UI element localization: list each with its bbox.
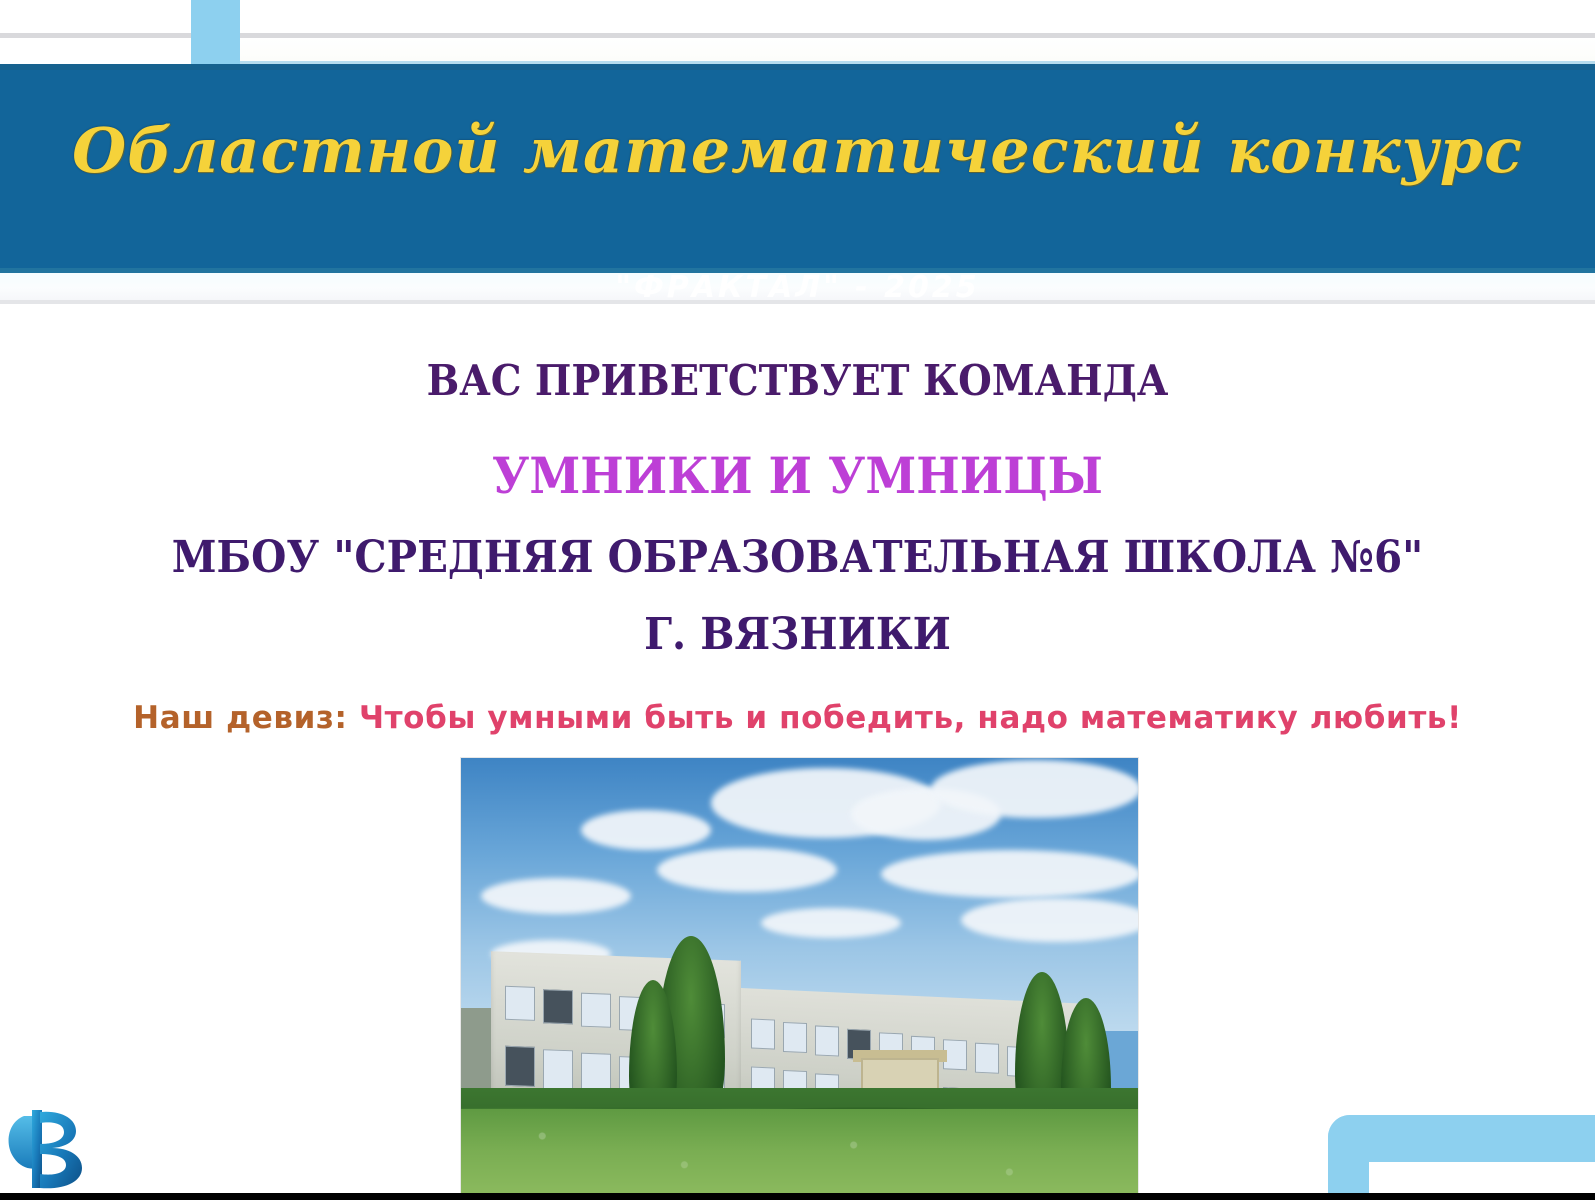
photo-cloud <box>761 908 901 938</box>
motto-label: Наш девиз: <box>133 700 347 736</box>
team-name-text: УМНИКИ И УМНИЦЫ <box>64 446 1531 505</box>
motto-text: Чтобы умными быть и победить, надо матем… <box>359 700 1462 736</box>
school-photo <box>460 757 1139 1200</box>
photo-lawn <box>461 1109 1138 1199</box>
bottom-black-bar <box>0 1193 1595 1200</box>
photo-cloud <box>931 760 1139 818</box>
header-band: Областной математический конкурс "ФРАКТА… <box>0 64 1595 273</box>
photo-cloud <box>881 850 1139 898</box>
top-white-strip <box>0 0 1595 33</box>
photo-cloud <box>481 878 631 914</box>
motto-line: Наш девиз: Чтобы умными быть и победить,… <box>0 700 1595 736</box>
page-subtitle: "ФРАКТАЛ" - 2025 <box>0 270 1595 305</box>
greeting-text: ВАС ПРИВЕТСТВУЕТ КОМАНДА <box>64 356 1531 405</box>
city-name-text: Г. ВЯЗНИКИ <box>64 609 1531 660</box>
header-band-top-shade <box>0 64 1595 70</box>
photo-cloud <box>581 810 711 850</box>
brand-logo-icon <box>2 1100 94 1192</box>
top-secondary-strip <box>0 38 1595 61</box>
school-name-text: МБОУ "СРЕДНЯЯ ОБРАЗОВАТЕЛЬНАЯ ШКОЛА №6" <box>64 532 1531 583</box>
page-title: Областной математический конкурс <box>0 120 1595 182</box>
photo-cloud <box>657 848 837 892</box>
photo-cloud <box>961 898 1139 942</box>
